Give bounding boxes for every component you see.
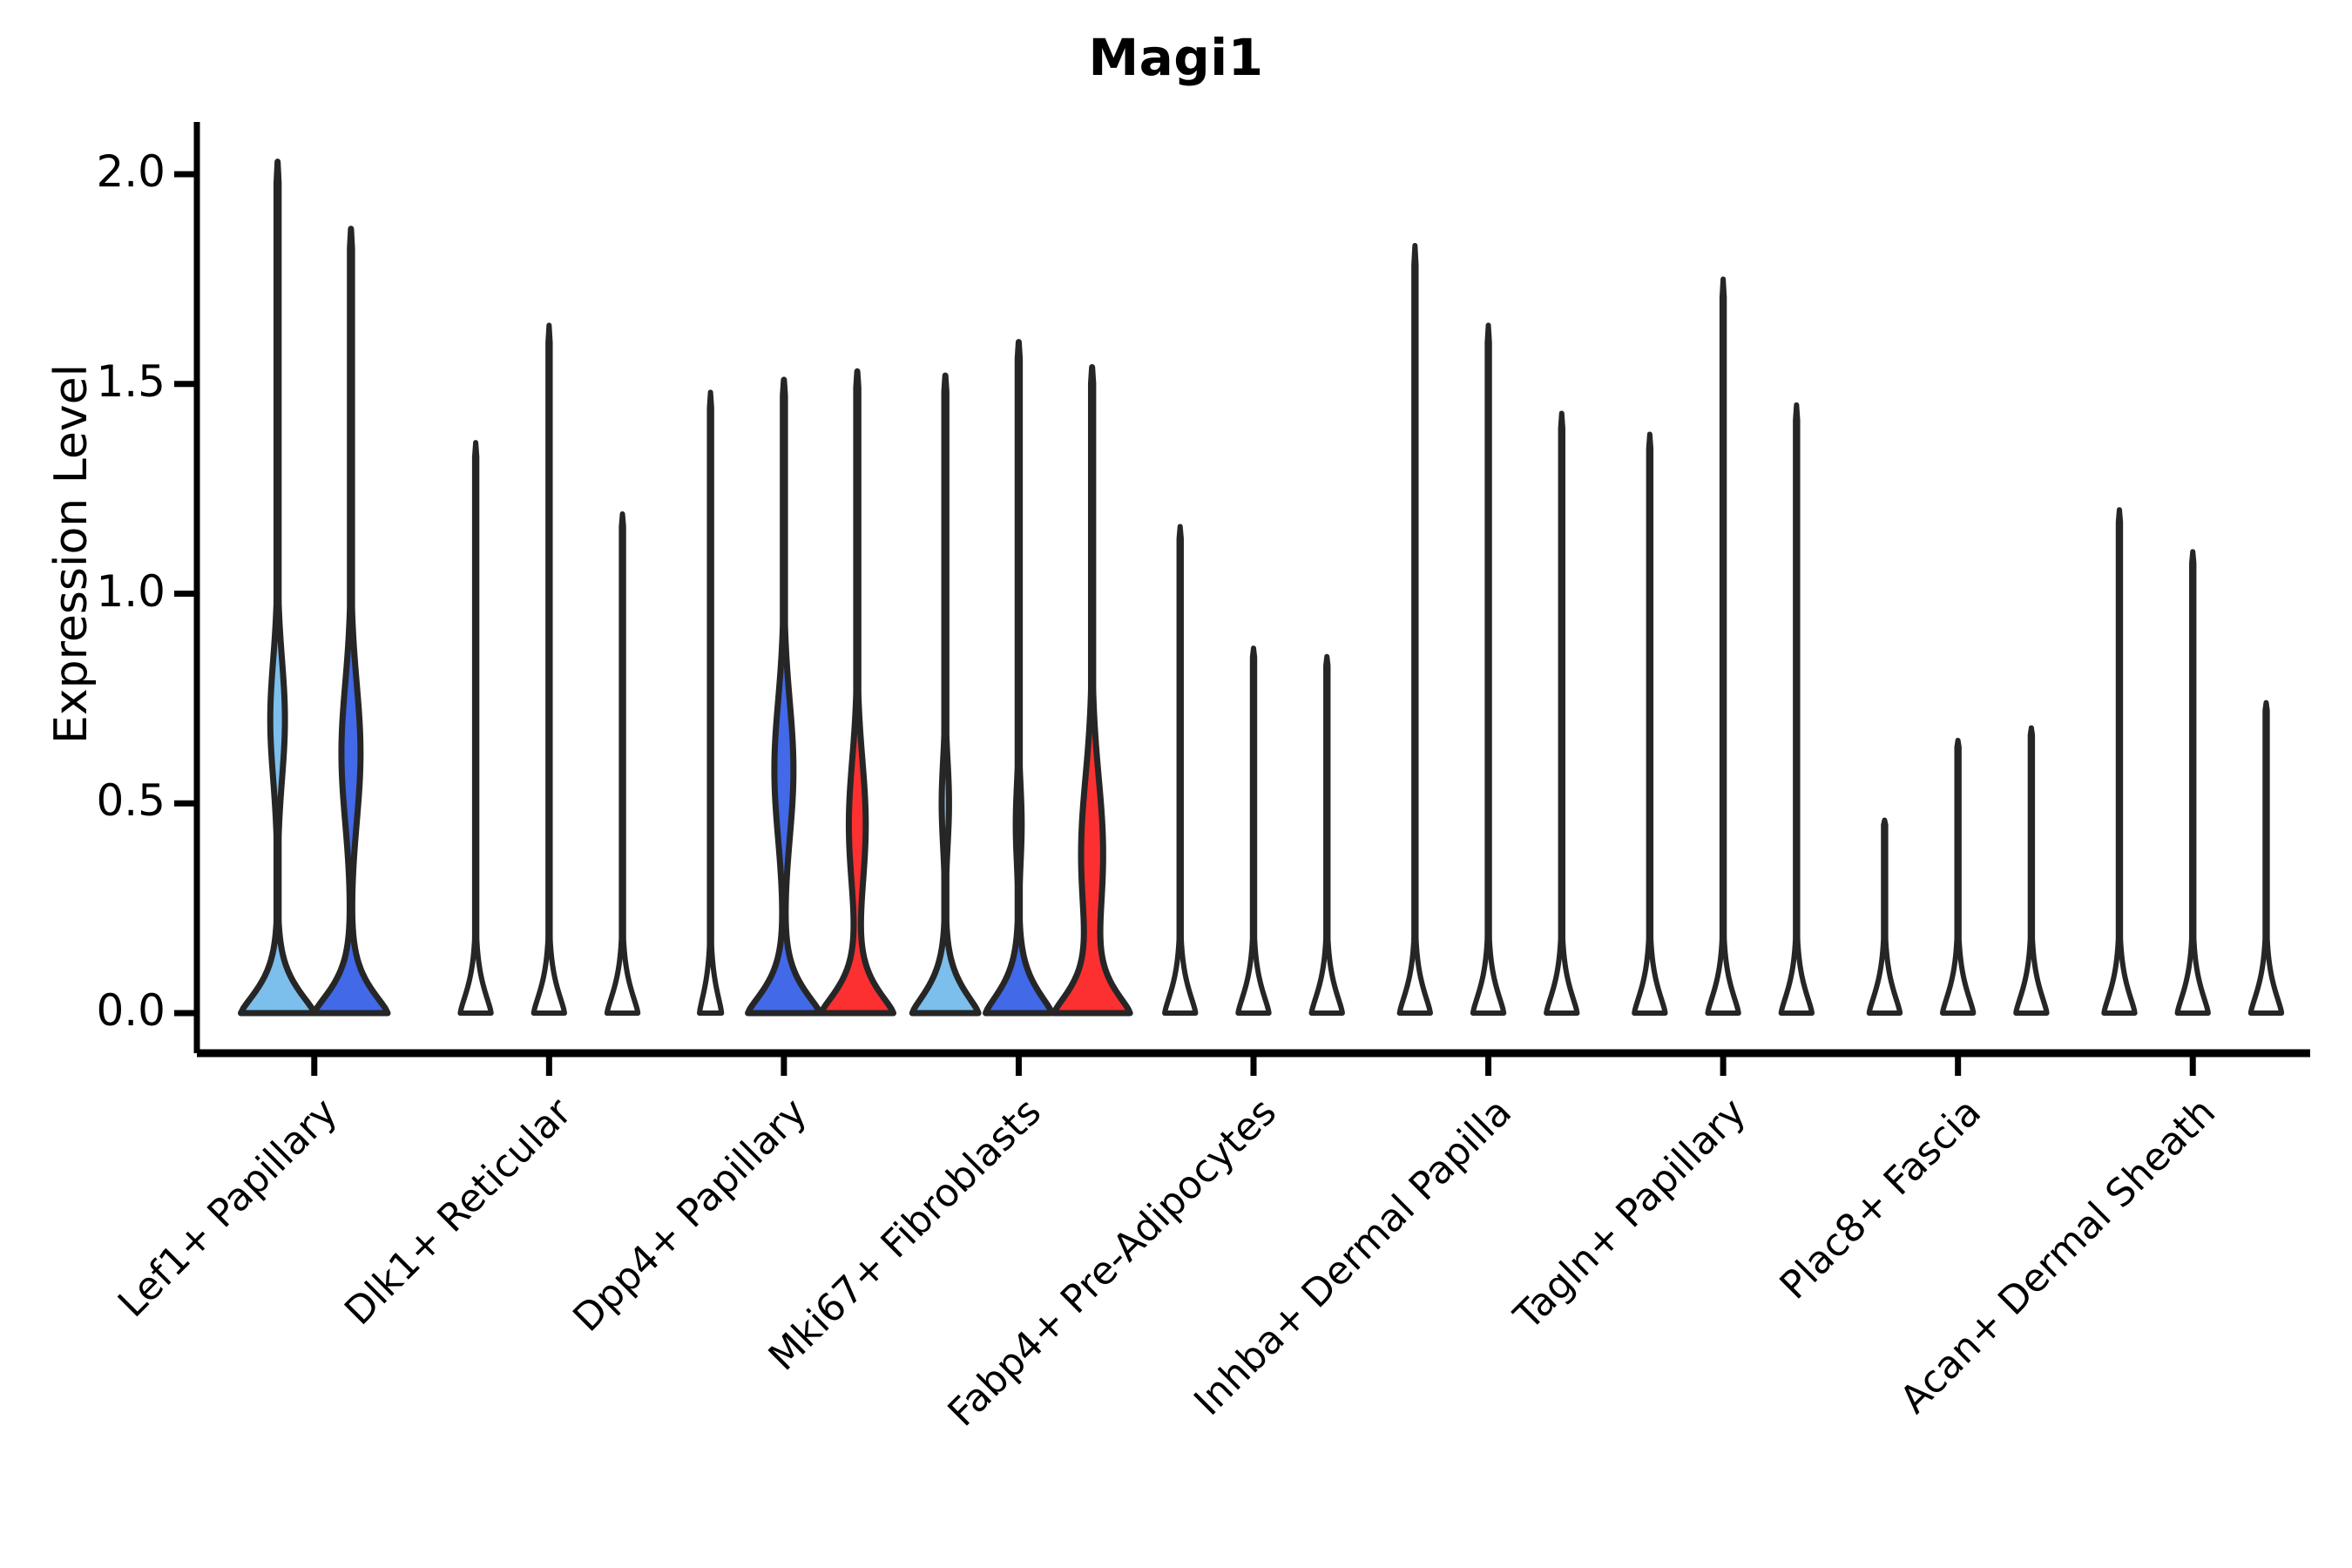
axes-layer [174, 122, 2310, 1076]
y-tick-label-4: 2.0 [26, 146, 166, 197]
violin-body [314, 229, 388, 1013]
violin-body [1781, 405, 1812, 1013]
violin-8-1[interactable] [1869, 821, 1900, 1013]
y-tick-label-1: 0.5 [26, 775, 166, 826]
violin-9-2[interactable] [2178, 551, 2208, 1013]
violin-body [1238, 648, 1268, 1013]
y-tick-label-2: 1.0 [26, 566, 166, 617]
violin-8-3[interactable] [2016, 728, 2046, 1013]
violin-3-1[interactable] [700, 392, 721, 1013]
violin-plot-figure: Magi1 Expression Level 0.00.51.01.52.0 L… [0, 0, 2352, 1568]
violin-6-1[interactable] [1400, 246, 1430, 1013]
violin-4-2[interactable] [986, 342, 1052, 1013]
violin-body [1707, 279, 1738, 1013]
violin-3-2[interactable] [748, 380, 821, 1013]
violin-body [986, 342, 1052, 1013]
violin-2-1[interactable] [460, 443, 490, 1013]
violin-body [1634, 435, 1665, 1013]
y-tick-label-0: 0.0 [26, 985, 166, 1036]
violin-7-1[interactable] [1634, 435, 1665, 1013]
violin-body [821, 371, 894, 1013]
violin-body [1054, 367, 1130, 1013]
violin-body [534, 325, 564, 1013]
violin-body [1400, 246, 1430, 1013]
violin-6-3[interactable] [1546, 413, 1577, 1013]
violin-body [748, 380, 821, 1013]
violin-body [1869, 821, 1900, 1013]
violin-5-3[interactable] [1312, 657, 1342, 1013]
violin-body [460, 443, 490, 1013]
violins-layer [241, 162, 2282, 1013]
y-tick-label-3: 1.5 [26, 356, 166, 407]
violin-body [1546, 413, 1577, 1013]
violin-body [2178, 551, 2208, 1013]
violin-body [912, 375, 978, 1013]
violin-6-2[interactable] [1473, 325, 1504, 1013]
violin-body [1312, 657, 1342, 1013]
violin-body [2251, 703, 2281, 1013]
violin-body [241, 162, 314, 1013]
violin-7-2[interactable] [1707, 279, 1738, 1013]
violin-2-3[interactable] [607, 514, 638, 1013]
violin-5-2[interactable] [1238, 648, 1268, 1013]
violin-1-2[interactable] [314, 229, 388, 1013]
violin-5-1[interactable] [1165, 526, 1195, 1013]
violin-8-2[interactable] [1943, 740, 1973, 1013]
violin-body [1473, 325, 1504, 1013]
violin-7-3[interactable] [1781, 405, 1812, 1013]
violin-4-1[interactable] [912, 375, 978, 1013]
violin-9-3[interactable] [2251, 703, 2281, 1013]
violin-body [700, 392, 721, 1013]
violin-1-1[interactable] [241, 162, 314, 1013]
violin-body [1943, 740, 1973, 1013]
violin-body [607, 514, 638, 1013]
violin-3-3[interactable] [821, 371, 894, 1013]
violin-body [2104, 510, 2134, 1013]
violin-body [1165, 526, 1195, 1013]
violin-2-2[interactable] [534, 325, 564, 1013]
violin-9-1[interactable] [2104, 510, 2134, 1013]
violin-body [2016, 728, 2046, 1013]
violin-4-3[interactable] [1054, 367, 1130, 1013]
